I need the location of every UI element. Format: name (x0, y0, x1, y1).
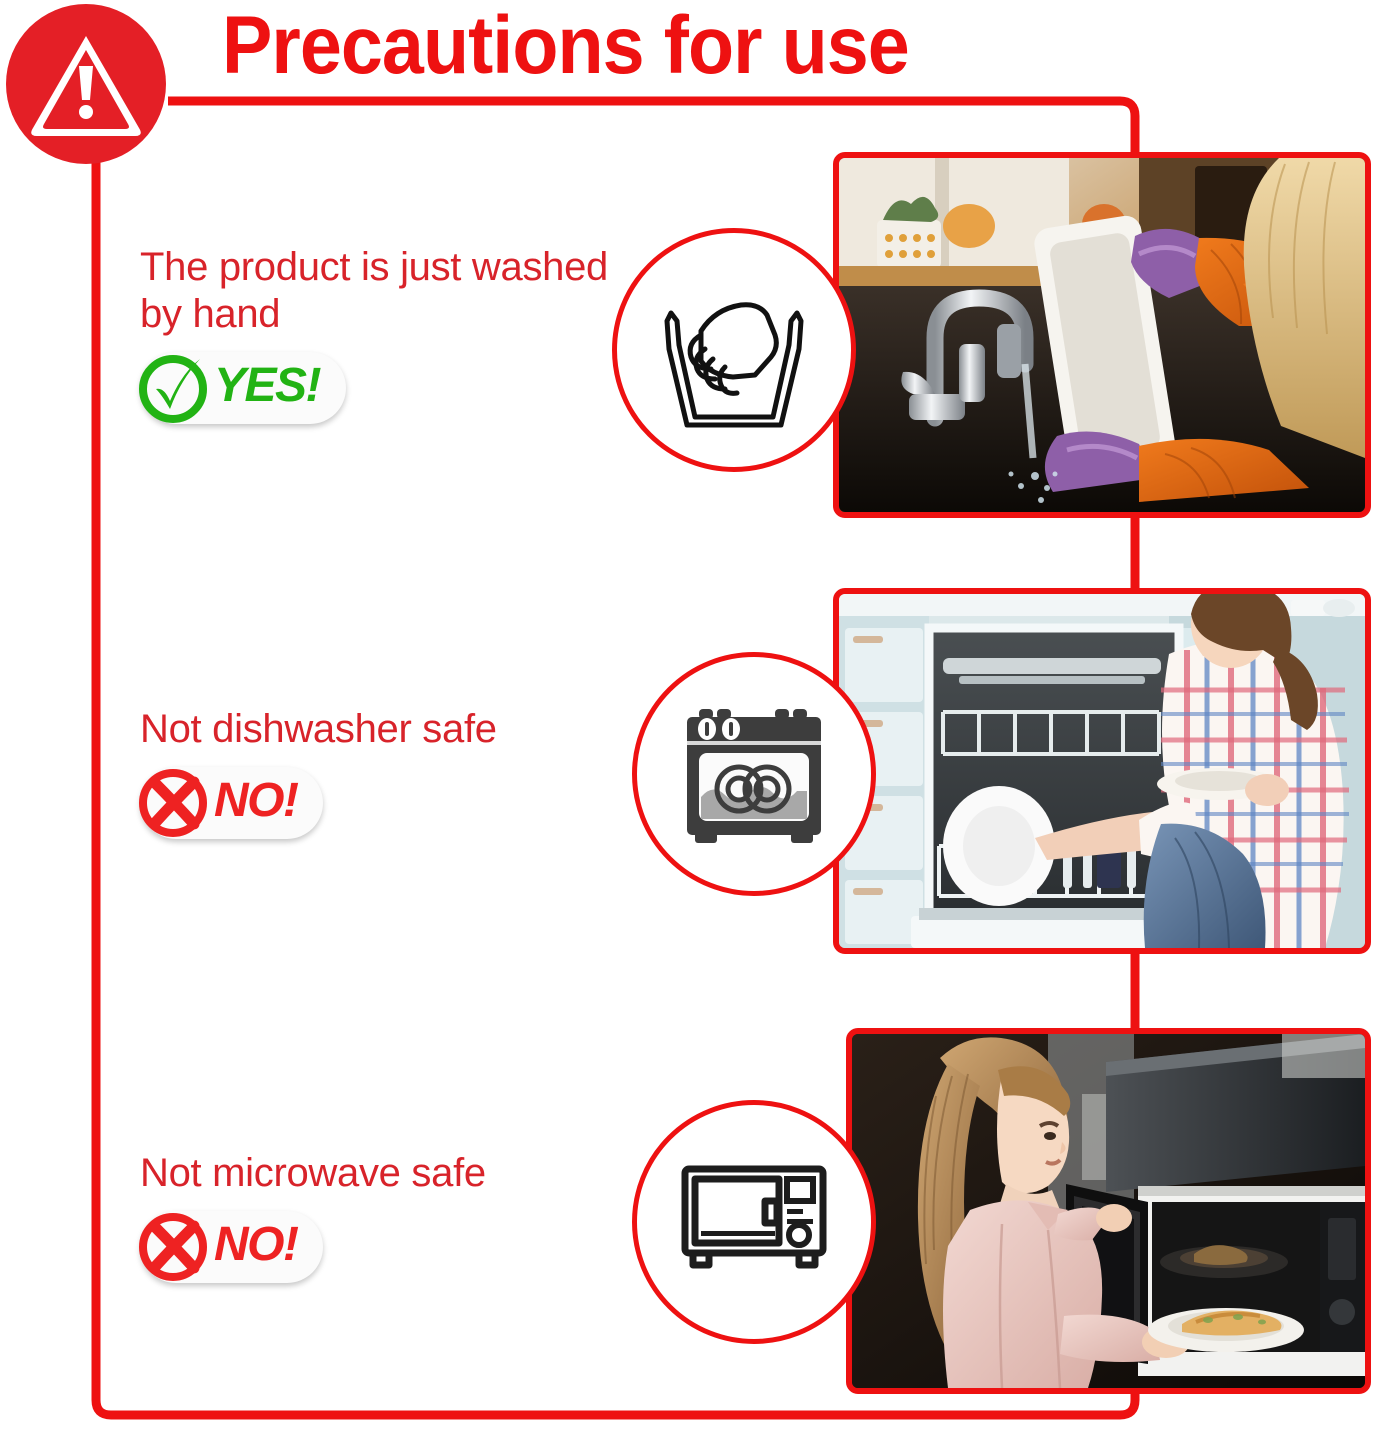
page-title: Precautions for use (222, 2, 1050, 91)
hand-wash-icon (612, 228, 856, 472)
section-caption-block: Not microwave safe NO! (140, 1150, 610, 1291)
warning-triangle-icon (6, 4, 166, 164)
photo-hand-washing (833, 152, 1371, 518)
dishwasher-icon (632, 652, 876, 896)
precautions-infographic: Precautions for use The product is just … (0, 0, 1380, 1445)
section-hand-wash: The product is just washed by hand YES! (0, 152, 1380, 518)
photo-microwave-use (846, 1028, 1371, 1394)
section-microwave: Not microwave safe NO! (0, 1028, 1380, 1394)
microwave-icon (632, 1100, 876, 1344)
status-badge-no: NO! (140, 1211, 323, 1283)
section-caption-text: The product is just washed by hand (140, 244, 610, 338)
check-circle-icon (134, 349, 212, 427)
section-caption-text: Not dishwasher safe (140, 706, 610, 753)
status-badge-label: YES! (214, 362, 320, 414)
section-dishwasher: Not dishwasher safe NO! (0, 588, 1380, 954)
section-caption-text: Not microwave safe (140, 1150, 610, 1197)
status-badge-yes: YES! (140, 352, 346, 424)
x-circle-icon (134, 764, 212, 842)
status-badge-no: NO! (140, 767, 323, 839)
status-badge-label: NO! (214, 777, 297, 829)
status-badge-label: NO! (214, 1221, 297, 1273)
section-caption-block: The product is just washed by hand YES! (140, 244, 610, 432)
x-circle-icon (134, 1208, 212, 1286)
section-caption-block: Not dishwasher safe NO! (140, 706, 610, 847)
photo-dishwasher-loading (833, 588, 1371, 954)
